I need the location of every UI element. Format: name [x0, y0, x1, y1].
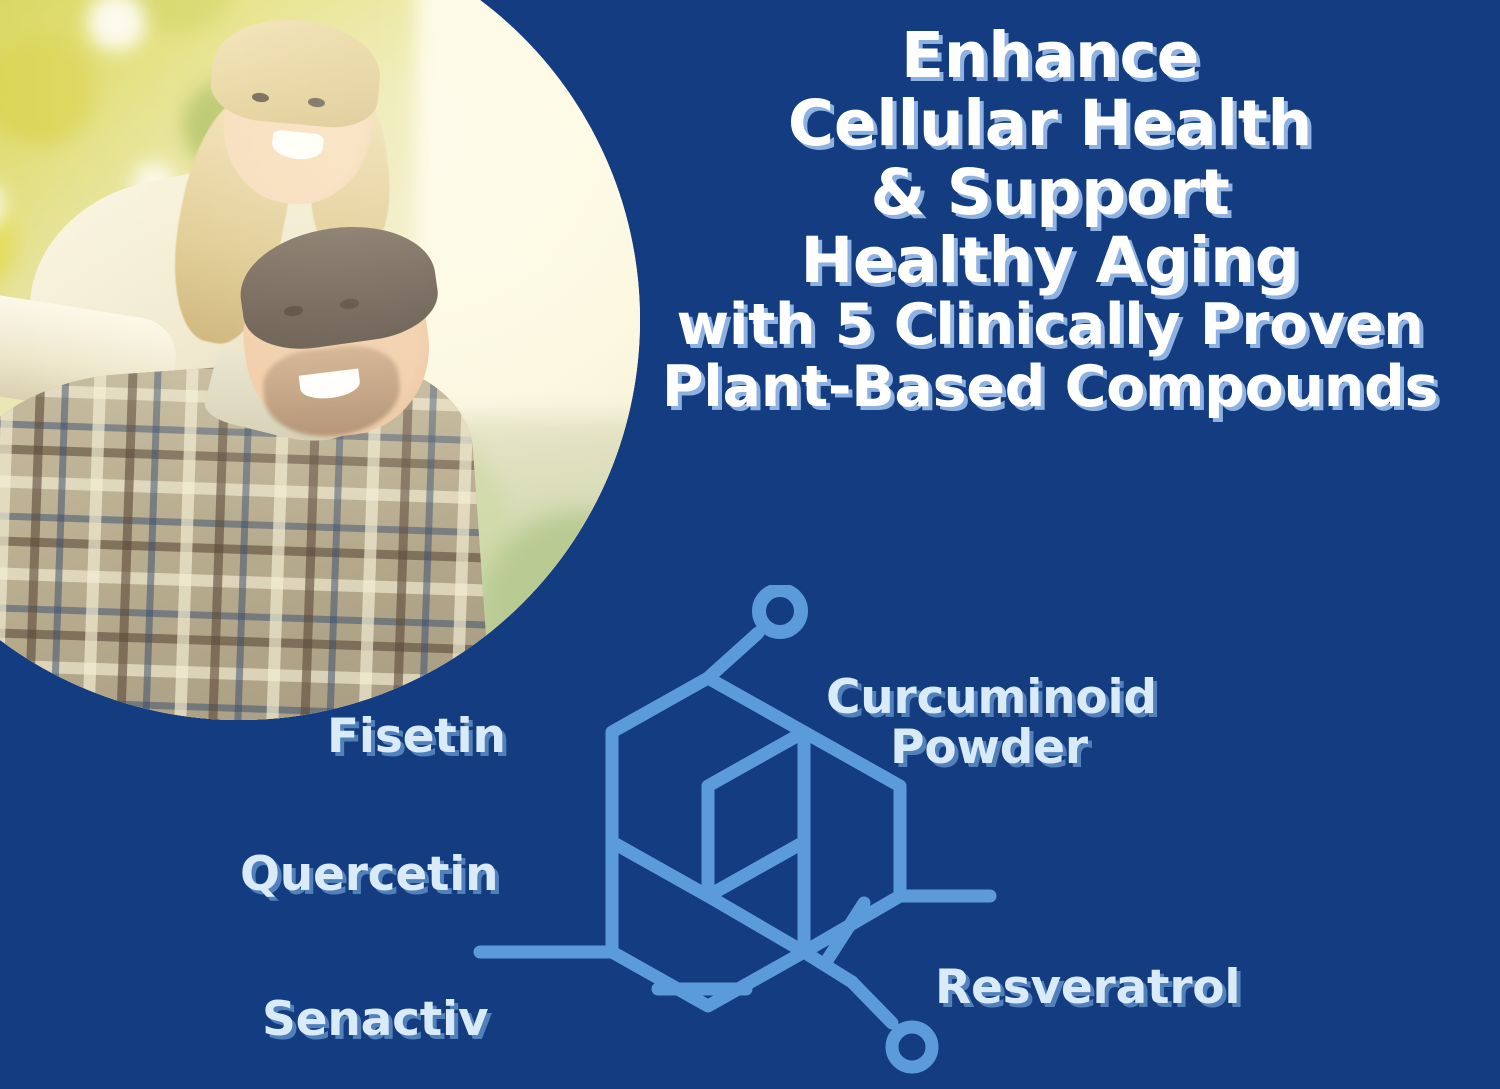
- ingredient-label-senactiv: Senactiv: [262, 995, 488, 1045]
- ingredient-label-fisetin: Fisetin: [327, 712, 506, 762]
- headline-line-5: with 5 Clinically Proven: [620, 295, 1480, 357]
- headline-line-1: Enhance: [620, 22, 1480, 90]
- ingredient-label-resveratrol: Resveratrol: [935, 963, 1240, 1013]
- ingredient-label-curcuminoid-powder: Curcuminoid Powder: [826, 673, 1152, 773]
- bond-to-upper-oxygen: [708, 633, 758, 678]
- headline-line-6: Plant-Based Compounds: [620, 357, 1480, 419]
- headline: Enhance Cellular Health & Support Health…: [620, 22, 1480, 419]
- oxygen-atom-upper: [759, 590, 801, 632]
- headline-line-2: Cellular Health: [620, 90, 1480, 158]
- headline-line-4: Healthy Aging: [620, 227, 1480, 295]
- oxygen-atom-lower: [892, 1027, 932, 1067]
- bond-to-lower-oxygen: [852, 982, 892, 1023]
- ingredient-label-quercetin: Quercetin: [240, 850, 498, 900]
- molecule-diagram: [440, 585, 1020, 1085]
- headline-line-3: & Support: [620, 159, 1480, 227]
- promo-graphic: Enhance Cellular Health & Support Health…: [0, 0, 1500, 1089]
